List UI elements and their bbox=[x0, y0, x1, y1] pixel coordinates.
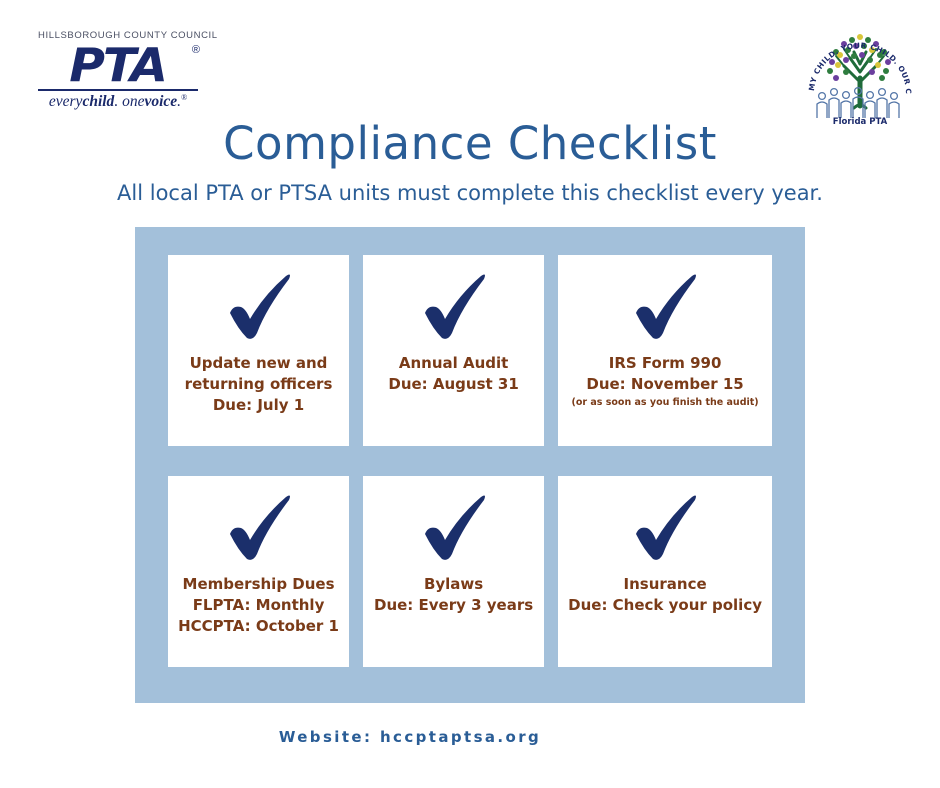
checkmark-icon bbox=[622, 490, 708, 568]
hillsborough-pta-logo: HILLSBOROUGH COUNTY COUNCIL PTA ® everyc… bbox=[38, 30, 198, 111]
checkmark-icon bbox=[216, 490, 302, 568]
checklist-card-line: Due: November 15 bbox=[572, 374, 759, 395]
checklist-panel: Update new and returning officers Due: J… bbox=[135, 227, 805, 703]
checklist-card-text: Annual Audit Due: August 31 bbox=[384, 353, 522, 395]
checkmark-icon bbox=[622, 269, 708, 347]
checklist-card-line: Due: Check your policy bbox=[568, 595, 762, 616]
checklist-card-membership-dues[interactable]: Membership Dues FLPTA: Monthly HCCPTA: O… bbox=[168, 476, 349, 667]
checklist-card-line: Due: July 1 bbox=[185, 395, 333, 416]
checklist-card-line: HCCPTA: October 1 bbox=[178, 616, 339, 637]
checklist-card-bylaws[interactable]: Bylaws Due: Every 3 years bbox=[363, 476, 544, 667]
checklist-card-note: (or as soon as you finish the audit) bbox=[572, 396, 759, 410]
pta-wordmark: PTA bbox=[70, 42, 167, 88]
checklist-card-line: Annual Audit bbox=[388, 353, 518, 374]
checklist-grid: Update new and returning officers Due: J… bbox=[168, 255, 772, 675]
checklist-card-line: Membership Dues bbox=[178, 574, 339, 595]
pta-tagline-every: every bbox=[49, 93, 83, 110]
checklist-card-insurance[interactable]: Insurance Due: Check your policy bbox=[558, 476, 772, 667]
checklist-card-text: IRS Form 990 Due: November 15 (or as soo… bbox=[568, 353, 763, 410]
pta-tagline-one: one bbox=[122, 93, 144, 110]
checklist-card-text: Bylaws Due: Every 3 years bbox=[370, 574, 537, 616]
checkmark-icon bbox=[411, 490, 497, 568]
page-title: Compliance Checklist bbox=[0, 118, 940, 170]
checklist-card-line: Due: August 31 bbox=[388, 374, 518, 395]
checklist-card-line: Due: Every 3 years bbox=[374, 595, 533, 616]
florida-pta-logo: MY CHILD. YOUR CHILD. OUR CHILDREN. Flor… bbox=[806, 22, 914, 126]
pta-wordmark-wrap: PTA ® bbox=[38, 42, 198, 88]
checkmark-icon bbox=[411, 269, 497, 347]
checklist-card-text: Update new and returning officers Due: J… bbox=[181, 353, 337, 416]
pta-tagline-voice: voice bbox=[144, 93, 177, 110]
pta-tagline-child: child bbox=[82, 93, 114, 110]
page-subtitle: All local PTA or PTSA units must complet… bbox=[0, 180, 940, 206]
checklist-card-line: Update new and bbox=[185, 353, 333, 374]
pta-registered-mark-icon: ® bbox=[192, 44, 200, 56]
checklist-card-text: Insurance Due: Check your policy bbox=[564, 574, 766, 616]
checklist-card-line: returning officers bbox=[185, 374, 333, 395]
pta-tagline-registered-icon: ® bbox=[181, 93, 187, 102]
checklist-card-line: Insurance bbox=[568, 574, 762, 595]
pta-tagline-dot1: . bbox=[114, 93, 122, 110]
checklist-card-irs-form-990[interactable]: IRS Form 990 Due: November 15 (or as soo… bbox=[558, 255, 772, 446]
checklist-card-annual-audit[interactable]: Annual Audit Due: August 31 bbox=[363, 255, 544, 446]
checklist-card-line: Bylaws bbox=[374, 574, 533, 595]
checklist-card-line: FLPTA: Monthly bbox=[178, 595, 339, 616]
checklist-card-text: Membership Dues FLPTA: Monthly HCCPTA: O… bbox=[174, 574, 343, 637]
checklist-card-officers[interactable]: Update new and returning officers Due: J… bbox=[168, 255, 349, 446]
checklist-card-line: IRS Form 990 bbox=[572, 353, 759, 374]
checkmark-icon bbox=[216, 269, 302, 347]
pta-tagline: everychild. onevoice.® bbox=[38, 93, 198, 111]
footer-website[interactable]: Website: hccptaptsa.org bbox=[0, 728, 940, 746]
